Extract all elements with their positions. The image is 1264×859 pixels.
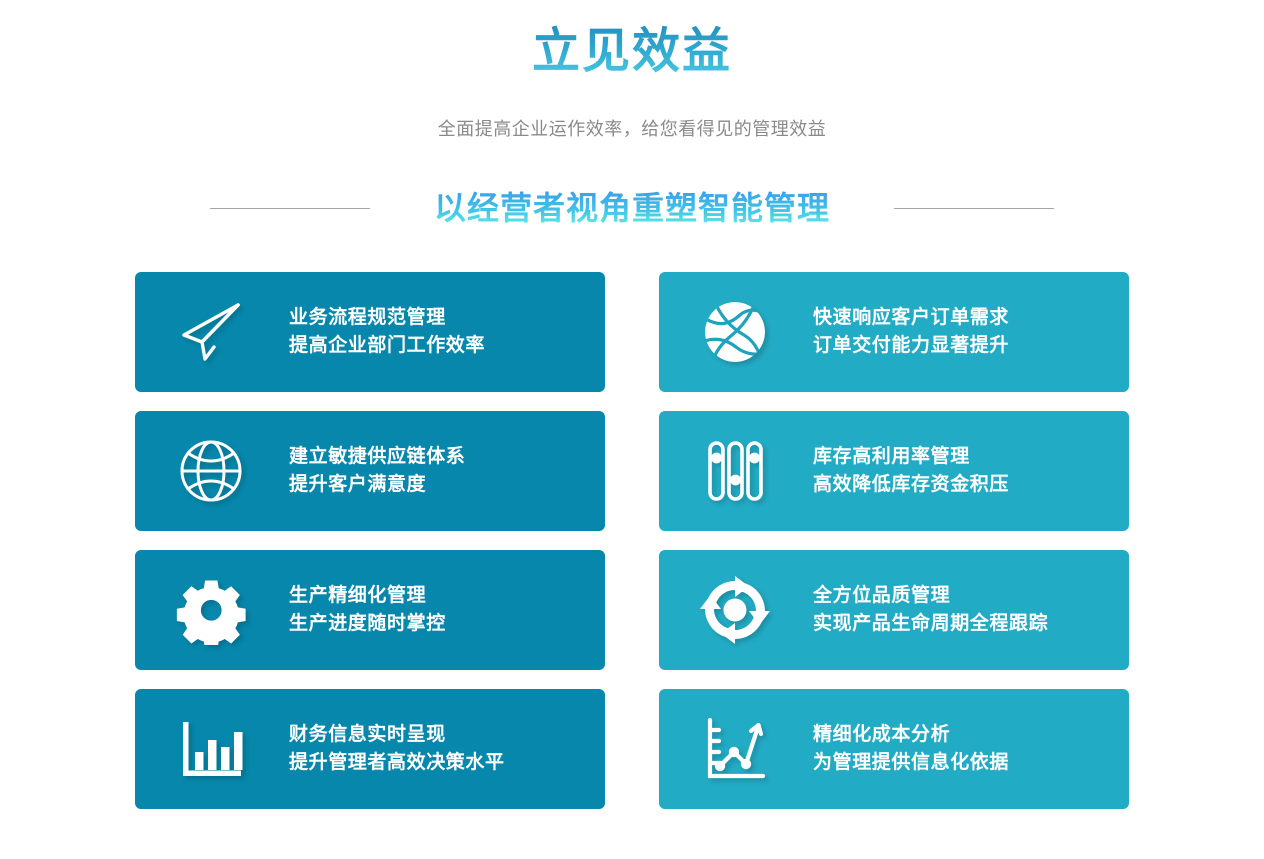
benefit-card-line-1: 业务流程规范管理 bbox=[289, 304, 485, 332]
benefit-card-line-2: 提升管理者高效决策水平 bbox=[289, 749, 505, 777]
divider-left bbox=[210, 208, 370, 209]
benefit-card-line-2: 为管理提供信息化依据 bbox=[813, 749, 1009, 777]
network-globe-icon bbox=[693, 297, 777, 367]
bar-chart-icon bbox=[169, 714, 253, 784]
benefit-card-text: 精细化成本分析为管理提供信息化依据 bbox=[813, 721, 1009, 777]
hero-section: 立见效益 全面提高企业运作效率，给您看得见的管理效益 bbox=[0, 0, 1264, 141]
benefit-card-text: 建立敏捷供应链体系提升客户满意度 bbox=[289, 443, 465, 499]
benefit-card-text: 业务流程规范管理提高企业部门工作效率 bbox=[289, 304, 485, 360]
benefit-card-text: 库存高利用率管理高效降低库存资金积压 bbox=[813, 443, 1009, 499]
benefit-card[interactable]: 快速响应客户订单需求订单交付能力显著提升 bbox=[659, 272, 1129, 392]
refresh-cycle-icon bbox=[693, 575, 777, 645]
globe-wireframe-icon bbox=[169, 436, 253, 506]
benefit-card-line-2: 提升客户满意度 bbox=[289, 471, 465, 499]
benefit-card-line-1: 建立敏捷供应链体系 bbox=[289, 443, 465, 471]
benefit-card[interactable]: 库存高利用率管理高效降低库存资金积压 bbox=[659, 411, 1129, 531]
benefit-card-line-2: 实现产品生命周期全程跟踪 bbox=[813, 610, 1048, 638]
page-title: 立见效益 bbox=[0, 24, 1264, 79]
benefit-card[interactable]: 建立敏捷供应链体系提升客户满意度 bbox=[135, 411, 605, 531]
benefit-card-text: 财务信息实时呈现提升管理者高效决策水平 bbox=[289, 721, 505, 777]
benefit-card[interactable]: 业务流程规范管理提高企业部门工作效率 bbox=[135, 272, 605, 392]
benefit-card-line-1: 财务信息实时呈现 bbox=[289, 721, 505, 749]
paper-plane-icon bbox=[169, 297, 253, 367]
benefit-card-text: 全方位品质管理实现产品生命周期全程跟踪 bbox=[813, 582, 1048, 638]
benefits-page: 立见效益 全面提高企业运作效率，给您看得见的管理效益 以经营者视角重塑智能管理 … bbox=[0, 0, 1264, 859]
benefit-card-text: 生产精细化管理生产进度随时掌控 bbox=[289, 582, 446, 638]
page-subtitle: 全面提高企业运作效率，给您看得见的管理效益 bbox=[0, 115, 1264, 141]
benefit-card-line-1: 精细化成本分析 bbox=[813, 721, 1009, 749]
benefit-card-line-2: 生产进度随时掌控 bbox=[289, 610, 446, 638]
benefit-card-line-1: 生产精细化管理 bbox=[289, 582, 446, 610]
section-heading-text: 以经营者视角重塑智能管理 bbox=[434, 189, 830, 227]
divider-right bbox=[894, 208, 1054, 209]
benefit-card-grid: 业务流程规范管理提高企业部门工作效率 快速响应客户订单需求订单交付能力显著提升 bbox=[135, 272, 1129, 809]
benefit-card-text: 快速响应客户订单需求订单交付能力显著提升 bbox=[813, 304, 1009, 360]
benefit-card-line-1: 全方位品质管理 bbox=[813, 582, 1048, 610]
benefit-card-line-2: 提高企业部门工作效率 bbox=[289, 332, 485, 360]
line-chart-arrow-icon bbox=[693, 714, 777, 784]
benefit-card-line-1: 快速响应客户订单需求 bbox=[813, 304, 1009, 332]
gear-icon bbox=[169, 575, 253, 645]
benefit-card-line-2: 高效降低库存资金积压 bbox=[813, 471, 1009, 499]
benefit-card[interactable]: 生产精细化管理生产进度随时掌控 bbox=[135, 550, 605, 670]
benefit-card[interactable]: 全方位品质管理实现产品生命周期全程跟踪 bbox=[659, 550, 1129, 670]
sliders-icon bbox=[693, 436, 777, 506]
benefit-card-line-2: 订单交付能力显著提升 bbox=[813, 332, 1009, 360]
section-heading: 以经营者视角重塑智能管理 bbox=[0, 189, 1264, 227]
benefit-card[interactable]: 精细化成本分析为管理提供信息化依据 bbox=[659, 689, 1129, 809]
benefit-card[interactable]: 财务信息实时呈现提升管理者高效决策水平 bbox=[135, 689, 605, 809]
benefit-card-line-1: 库存高利用率管理 bbox=[813, 443, 1009, 471]
